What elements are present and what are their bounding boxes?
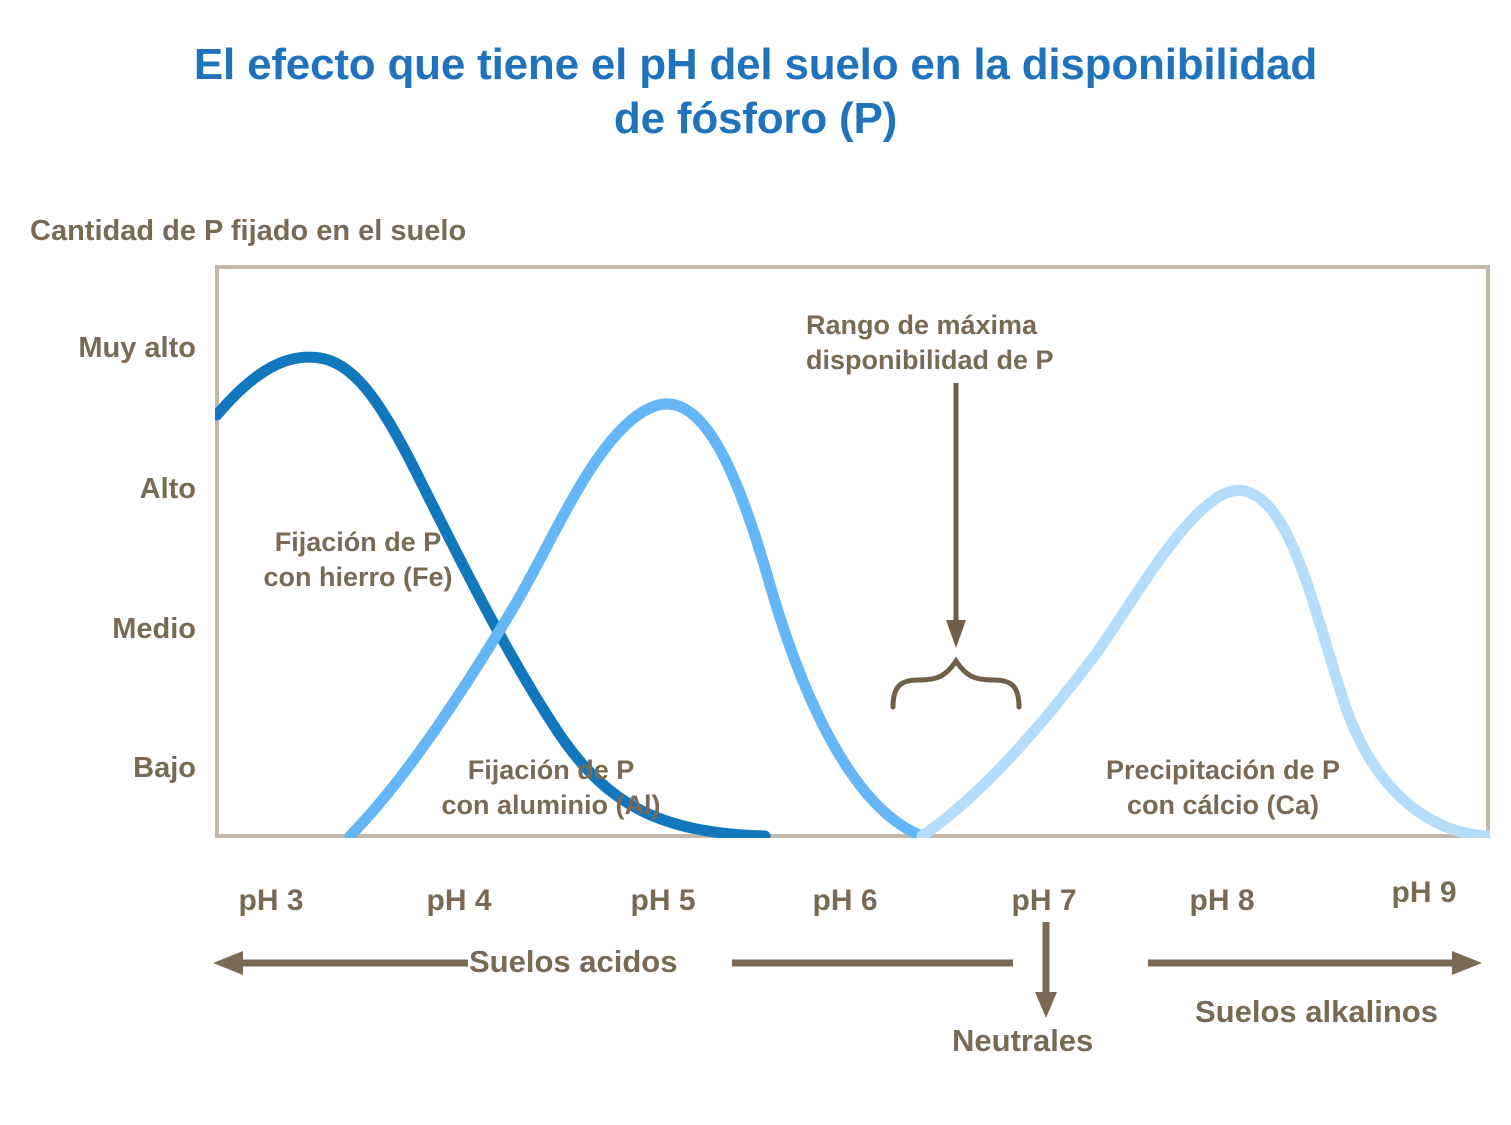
label-neutrales: Neutrales [952, 1023, 1093, 1059]
y-tick-medio: Medio [6, 613, 196, 646]
annotation-fe-line-1: Fijación de P [228, 525, 488, 560]
annotation-ca: Precipitación de P con cálcio (Ca) [1058, 753, 1388, 823]
x-tick-ph5: pH 5 [630, 884, 695, 918]
annotation-al-line-1: Fijación de P [406, 753, 696, 788]
annotation-ca-line-2: con cálcio (Ca) [1058, 788, 1388, 823]
annotation-al-line-2: con aluminio (Al) [406, 788, 696, 823]
max-range-pointer [860, 380, 1080, 730]
x-tick-ph4: pH 4 [426, 884, 491, 918]
x-tick-ph3: pH 3 [238, 884, 303, 918]
x-tick-ph8: pH 8 [1189, 884, 1254, 918]
annotation-max-range-line-2: disponibilidad de P [806, 343, 1136, 378]
annotation-fe: Fijación de P con hierro (Fe) [228, 525, 488, 595]
x-tick-ph6: pH 6 [812, 884, 877, 918]
label-suelos-alkalinos: Suelos alkalinos [1195, 994, 1438, 1030]
y-tick-alto: Alto [6, 473, 196, 506]
page-title: El efecto que tiene el pH del suelo en l… [0, 38, 1511, 145]
annotation-max-range: Rango de máxima disponibilidad de P [806, 308, 1136, 378]
y-tick-muy-alto: Muy alto [6, 332, 196, 365]
max-range-arrow-head [946, 620, 966, 648]
annotation-ca-line-1: Precipitación de P [1058, 753, 1388, 788]
x-tick-ph7: pH 7 [1011, 884, 1076, 918]
x-tick-ph9: pH 9 [1391, 876, 1456, 910]
label-suelos-acidos: Suelos acidos [469, 944, 677, 980]
annotation-fe-line-2: con hierro (Fe) [228, 560, 488, 595]
y-tick-bajo: Bajo [6, 752, 196, 785]
annotation-al: Fijación de P con aluminio (Al) [406, 753, 696, 823]
alkaline-range-arrow-head [1452, 951, 1482, 975]
max-range-brace-icon [893, 661, 1019, 707]
title-line-1: El efecto que tiene el pH del suelo en l… [194, 40, 1317, 89]
neutral-arrow-head [1035, 992, 1057, 1018]
title-line-2: de fósforo (P) [0, 92, 1511, 146]
acid-range-arrow-head-left [213, 951, 243, 975]
annotation-max-range-line-1: Rango de máxima [806, 308, 1136, 343]
